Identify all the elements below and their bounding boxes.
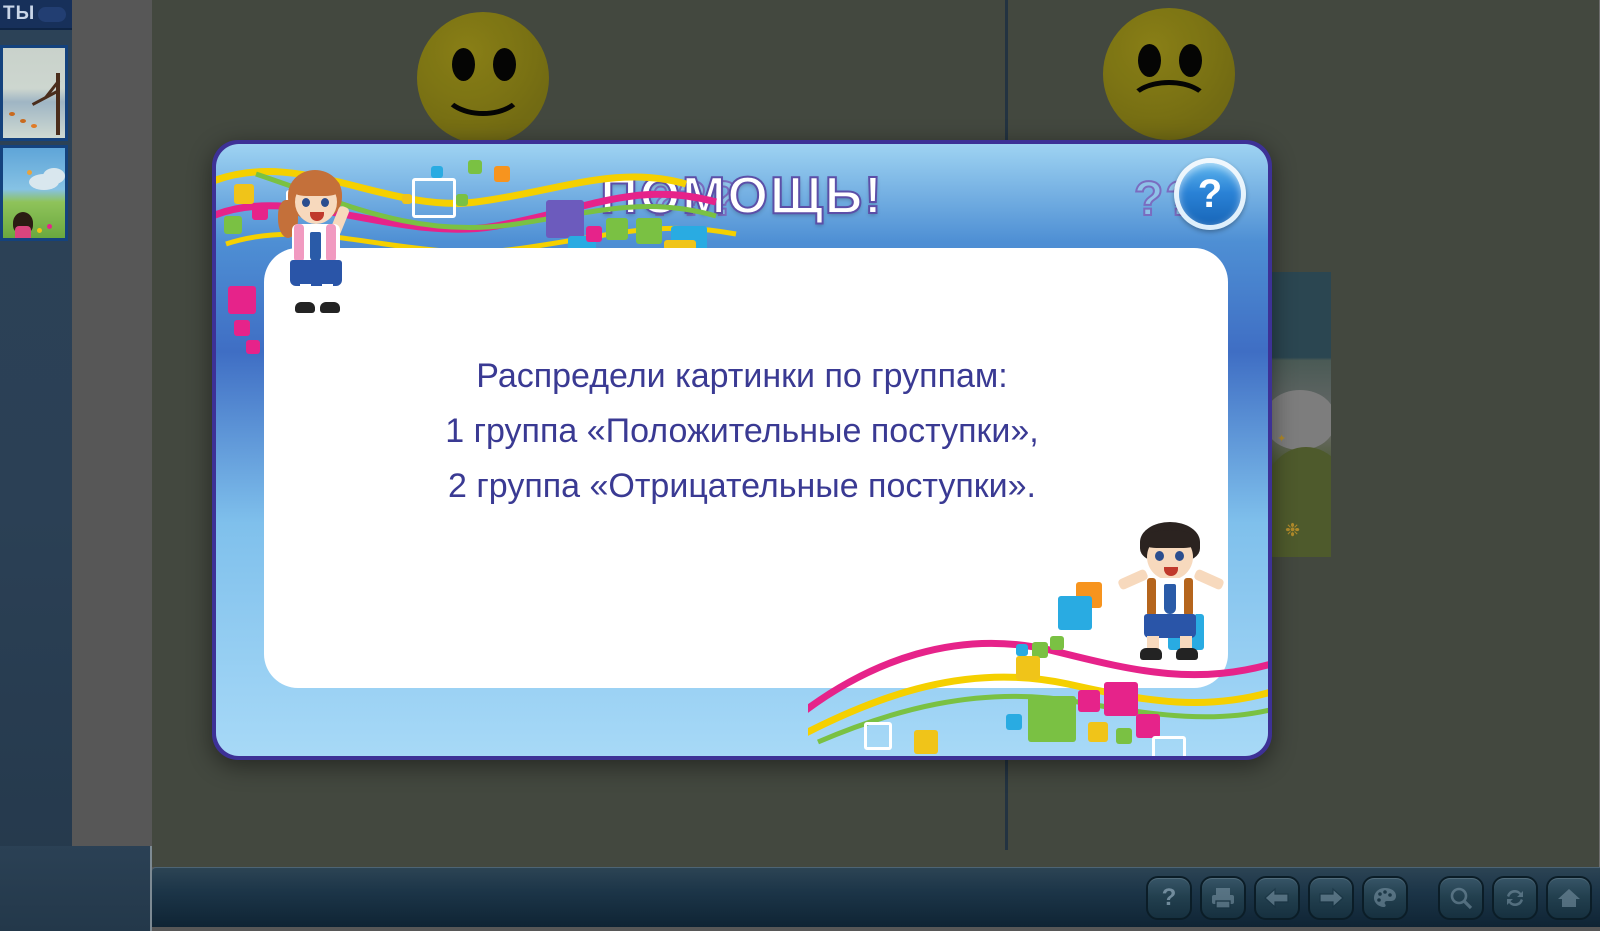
decor-square-hollow bbox=[1152, 736, 1186, 756]
background-illustration: ✦ ❉ bbox=[1271, 272, 1331, 557]
hill-shape bbox=[1271, 447, 1331, 557]
eye-right bbox=[321, 198, 329, 207]
palette-icon bbox=[1372, 886, 1398, 910]
palette-button[interactable] bbox=[1362, 876, 1408, 920]
refresh-icon bbox=[1502, 886, 1528, 910]
forward-button[interactable] bbox=[1308, 876, 1354, 920]
decor-square bbox=[1016, 656, 1040, 680]
eye-left bbox=[302, 198, 310, 207]
bottom-toolbar: ? bbox=[152, 867, 1600, 927]
home-icon bbox=[1556, 886, 1582, 910]
decor-square bbox=[1006, 714, 1022, 730]
taskbar-left-block bbox=[0, 846, 152, 931]
decor-square bbox=[606, 218, 628, 240]
decor-square bbox=[914, 730, 938, 754]
decor-square bbox=[234, 320, 250, 336]
decor-square bbox=[234, 184, 254, 204]
smiley-mouth bbox=[1127, 80, 1211, 130]
sidebar-title: ТЫ bbox=[0, 0, 72, 30]
backpack-strap bbox=[1184, 578, 1193, 616]
arrow-right-icon bbox=[1317, 886, 1345, 910]
decor-square-hollow bbox=[412, 178, 456, 218]
decor-square bbox=[1016, 644, 1028, 656]
magnifier-icon bbox=[1448, 886, 1474, 910]
decor-square bbox=[636, 218, 662, 244]
shorts bbox=[1144, 614, 1196, 638]
sidebar-title-pill bbox=[38, 7, 66, 22]
child-body bbox=[15, 226, 31, 238]
toolbar-button-group: ? bbox=[1146, 876, 1592, 920]
decor-square bbox=[252, 204, 268, 220]
decor-square bbox=[224, 216, 242, 234]
schoolboy-character bbox=[1114, 522, 1234, 662]
skirt bbox=[290, 260, 342, 286]
flower-dot bbox=[37, 228, 42, 233]
shoe-left bbox=[295, 302, 315, 313]
help-dialog-inner: ??? ПОМОЩЬ! ??? ? bbox=[216, 144, 1268, 756]
decor-square bbox=[1104, 682, 1138, 716]
bangs bbox=[1144, 530, 1196, 548]
decor-square bbox=[228, 286, 256, 314]
sidebar-title-text: ТЫ bbox=[3, 3, 35, 25]
necktie bbox=[310, 232, 321, 262]
flower-dot bbox=[47, 224, 52, 229]
arrow-left-icon bbox=[1263, 886, 1291, 910]
print-button[interactable] bbox=[1200, 876, 1246, 920]
shoe-right bbox=[1176, 648, 1198, 660]
decor-square bbox=[1058, 596, 1092, 630]
winter-scene-thumbnail bbox=[3, 48, 65, 138]
help-dialog: ??? ПОМОЩЬ! ??? ? bbox=[212, 140, 1272, 760]
butterfly-icon: ✦ bbox=[1277, 432, 1286, 445]
decor-square bbox=[1078, 690, 1100, 712]
flower-dot bbox=[27, 170, 32, 175]
zoom-button[interactable] bbox=[1438, 876, 1484, 920]
decor-square bbox=[494, 166, 510, 182]
smiley-eye-right bbox=[1179, 44, 1202, 77]
leaf-dot bbox=[20, 119, 26, 123]
eye-right bbox=[1175, 551, 1184, 561]
cloud-shape bbox=[43, 168, 65, 184]
backpack-strap bbox=[326, 224, 336, 262]
back-button[interactable] bbox=[1254, 876, 1300, 920]
decor-square bbox=[1088, 722, 1108, 742]
decor-square bbox=[1116, 728, 1132, 744]
schoolgirl-character bbox=[268, 166, 374, 316]
arm-right bbox=[1193, 568, 1225, 590]
decor-square bbox=[468, 160, 482, 174]
help-button[interactable]: ? bbox=[1146, 876, 1192, 920]
decor-square bbox=[1028, 696, 1076, 742]
sidebar: ТЫ bbox=[0, 0, 72, 931]
leaf-dot bbox=[31, 124, 37, 128]
question-icon: ? bbox=[1162, 884, 1177, 912]
eye-left bbox=[1155, 551, 1164, 561]
printer-icon bbox=[1210, 886, 1236, 910]
shoe-left bbox=[1140, 648, 1162, 660]
screen: ✦ ❉ ТЫ bbox=[0, 0, 1600, 931]
decor-square bbox=[431, 166, 443, 178]
decor-square bbox=[1050, 636, 1064, 650]
decor-square bbox=[456, 194, 468, 206]
sidebar-item-spring-slide[interactable] bbox=[0, 145, 68, 241]
backpack-strap bbox=[294, 224, 304, 262]
question-icon: ? bbox=[1179, 163, 1241, 225]
sad-smiley bbox=[1103, 8, 1235, 140]
refresh-button[interactable] bbox=[1492, 876, 1538, 920]
decor-square bbox=[1136, 714, 1160, 738]
spring-scene-thumbnail bbox=[3, 148, 65, 238]
shoe-right bbox=[320, 302, 340, 313]
sidebar-item-winter-slide[interactable] bbox=[0, 45, 68, 141]
backpack-strap bbox=[1147, 578, 1156, 616]
decor-square bbox=[586, 226, 602, 242]
smiley-mouth bbox=[441, 62, 525, 116]
butterfly-icon: ❉ bbox=[1285, 520, 1300, 541]
leaf-dot bbox=[9, 112, 15, 116]
bangs bbox=[292, 176, 340, 196]
decor-square-hollow bbox=[864, 722, 892, 750]
happy-smiley bbox=[417, 12, 549, 144]
necktie bbox=[1164, 584, 1176, 614]
home-button[interactable] bbox=[1546, 876, 1592, 920]
decor-square bbox=[402, 194, 412, 204]
decor-square bbox=[546, 200, 584, 238]
smiley-eye-left bbox=[1138, 44, 1161, 77]
help-icon-button[interactable]: ? bbox=[1174, 158, 1246, 230]
dialog-body-text: Распредели картинки по группам: 1 группа… bbox=[216, 349, 1268, 514]
